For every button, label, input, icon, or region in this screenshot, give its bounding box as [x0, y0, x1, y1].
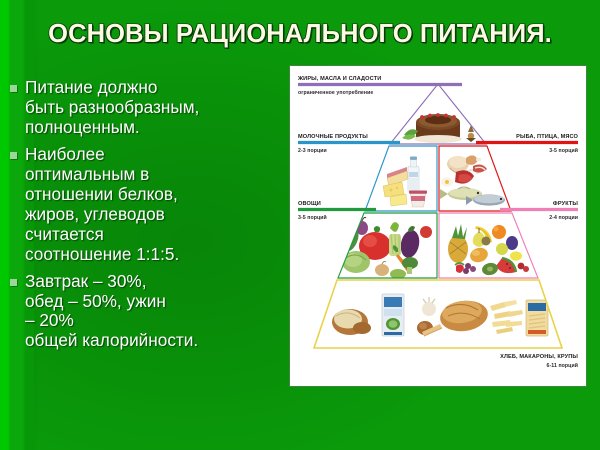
servings-bread-pasta-grains: 6-11 порций	[547, 362, 578, 369]
label-dairy: МОЛОЧНЫЕ ПРОДУКТЫ	[298, 134, 368, 140]
bullet-list: Питание должно быть разнообразным, полно…	[6, 78, 282, 358]
list-item-text: Завтрак – 30%, обед – 50%, ужин – 20% об…	[25, 272, 282, 352]
list-item: Питание должно быть разнообразным, полно…	[6, 78, 282, 138]
label-fats-oils-sweets: ЖИРЫ, МАСЛА И СЛАДОСТИ	[297, 76, 381, 82]
list-item-text: Питание должно быть разнообразным, полно…	[25, 78, 282, 138]
slide-canvas: ОСНОВЫ РАЦИОНАЛЬНОГО ПИТАНИЯ. Питание до…	[0, 0, 600, 450]
label-bread-pasta-grains: ХЛЕБ, МАКАРОНЫ, КРУПЫ	[500, 354, 578, 360]
label-vegetables: ОВОЩИ	[298, 201, 321, 207]
list-item: Наиболее оптимальным в отношении белков,…	[6, 145, 282, 265]
label-fruits: ФРУКТЫ	[553, 201, 578, 207]
square-bullet-icon	[10, 85, 17, 92]
list-item-text: Наиболее оптимальным в отношении белков,…	[25, 145, 282, 265]
food-pyramid-image: ЖИРЫ, МАСЛА И СЛАДОСТИ ограниченное упот…	[290, 66, 586, 386]
list-item: Завтрак – 30%, обед – 50%, ужин – 20% об…	[6, 272, 282, 352]
servings-meat-fish-poultry: 3-5 порций	[549, 147, 578, 154]
servings-dairy: 2-3 порции	[298, 148, 327, 154]
servings-fats-oils-sweets: ограниченное употребление	[298, 89, 373, 96]
servings-vegetables: 3-5 порций	[298, 214, 327, 221]
square-bullet-icon	[10, 152, 17, 159]
page-title: ОСНОВЫ РАЦИОНАЛЬНОГО ПИТАНИЯ.	[0, 20, 600, 49]
square-bullet-icon	[10, 279, 17, 286]
servings-fruits: 2-4 порции	[549, 215, 578, 221]
label-meat-fish-poultry: РЫБА, ПТИЦА, МЯСО	[516, 134, 578, 140]
